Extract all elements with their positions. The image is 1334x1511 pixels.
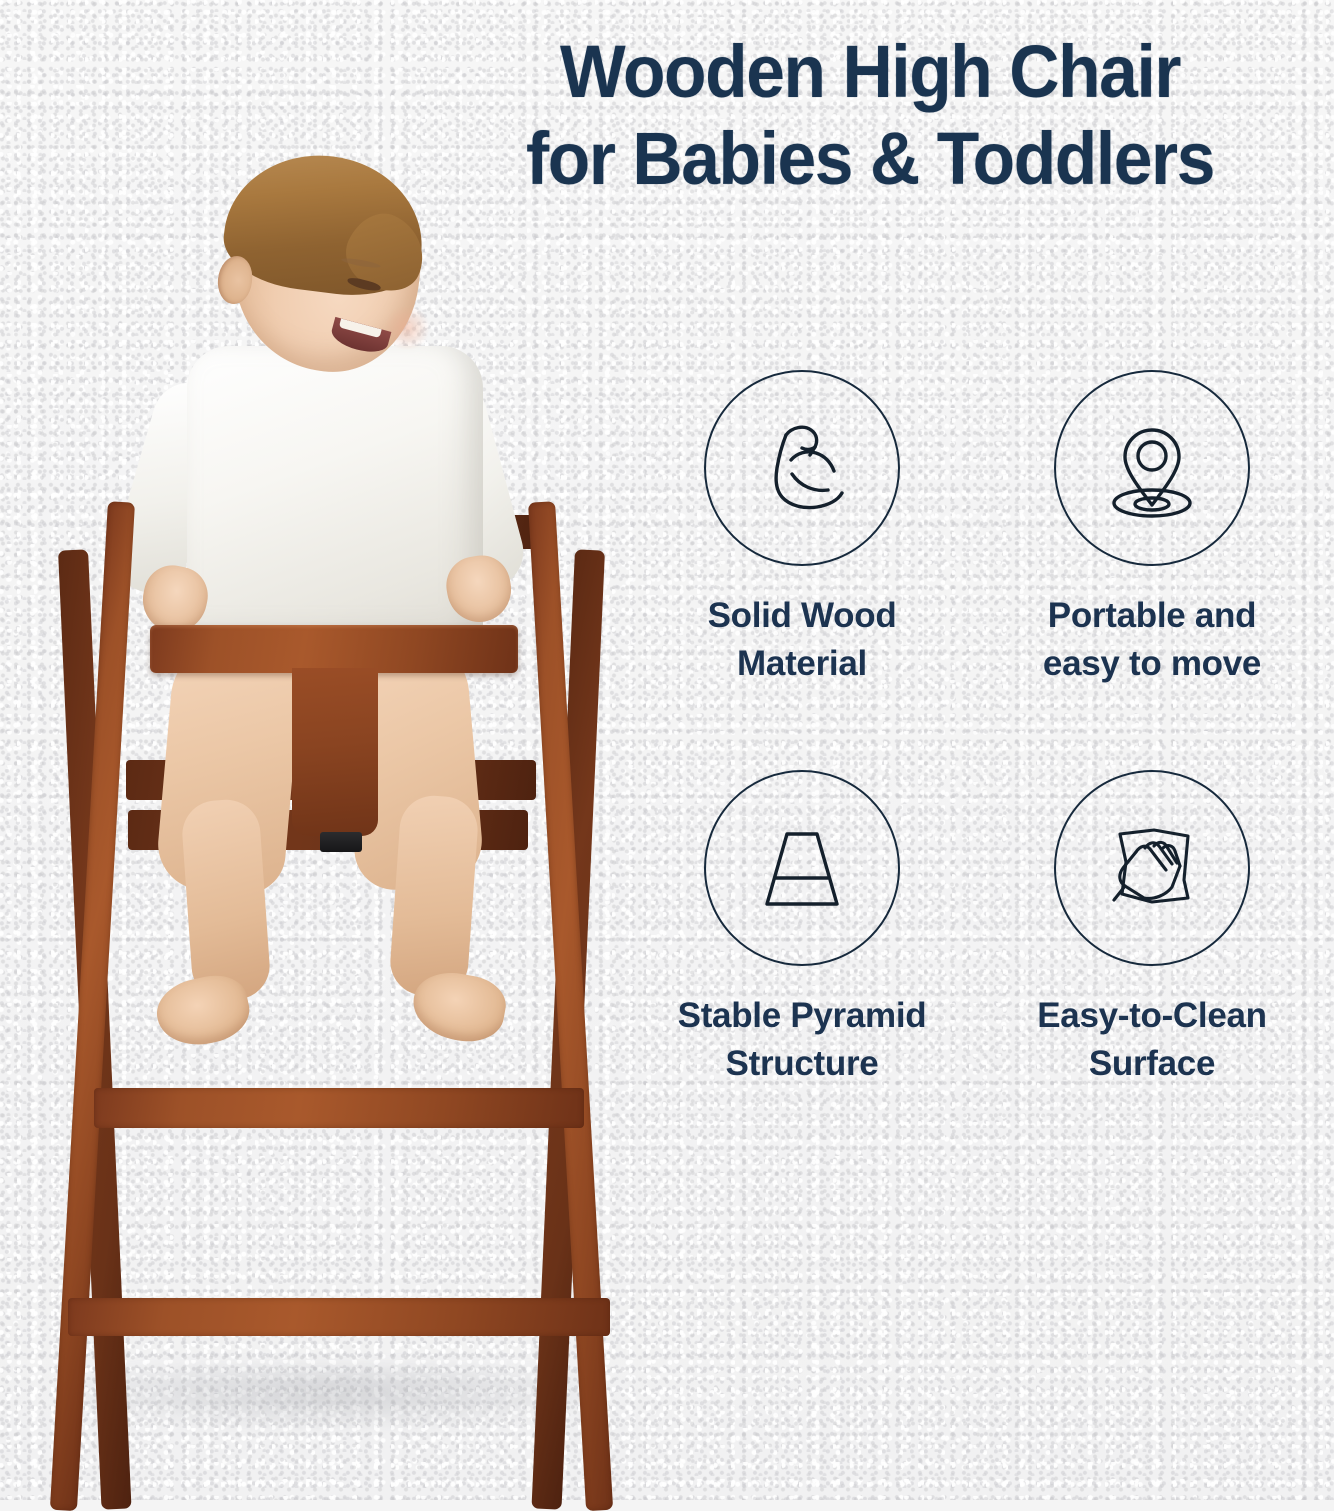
feature-label: Stable Pyramid Structure bbox=[642, 992, 962, 1087]
baby-shin-left bbox=[180, 798, 272, 1003]
feature-label: Easy-to-Clean Surface bbox=[992, 992, 1312, 1087]
feature-label: Solid Wood Material bbox=[642, 592, 962, 687]
title-line-1: Wooden High Chair bbox=[456, 28, 1283, 115]
safety-harness-buckle bbox=[320, 832, 362, 852]
baby-torso-onesie bbox=[187, 346, 483, 646]
feature-item-pyramid: Stable Pyramid Structure bbox=[642, 770, 962, 1087]
chair-crossbar-lower bbox=[68, 1298, 610, 1336]
chair-front-tray-rail bbox=[150, 625, 518, 673]
hand-wiping-cloth-icon bbox=[1054, 770, 1250, 966]
product-photo bbox=[0, 120, 660, 1440]
feature-grid: Solid Wood Material Portable and easy to… bbox=[620, 370, 1334, 1160]
chair-crossbar-upper bbox=[94, 1088, 584, 1128]
baby-cheek bbox=[383, 306, 431, 350]
feature-item-easy-clean: Easy-to-Clean Surface bbox=[992, 770, 1312, 1087]
floor-shadow bbox=[70, 1365, 590, 1427]
baby-shin-right bbox=[388, 794, 480, 999]
feature-item-solid-wood: Solid Wood Material bbox=[642, 370, 962, 687]
muscle-flex-icon bbox=[704, 370, 900, 566]
feature-label: Portable and easy to move bbox=[992, 592, 1312, 687]
chair-t-shaped-crotch-post bbox=[292, 668, 378, 836]
feature-item-portable: Portable and easy to move bbox=[992, 370, 1312, 687]
pyramid-trapezoid-icon bbox=[704, 770, 900, 966]
location-pin-icon bbox=[1054, 370, 1250, 566]
infographic-canvas: Wooden High Chair for Babies & Toddlers bbox=[0, 0, 1334, 1500]
